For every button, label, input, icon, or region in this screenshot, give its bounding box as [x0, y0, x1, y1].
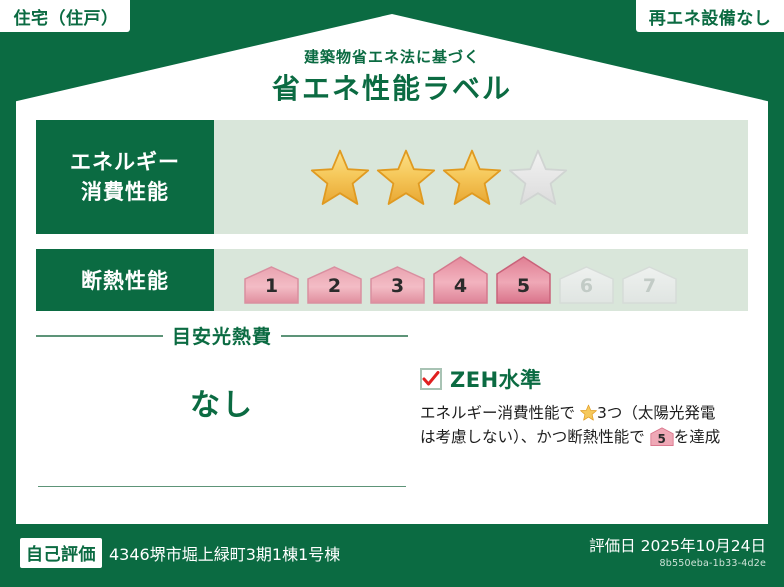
check-icon	[422, 371, 440, 387]
zeh-desc-part3: を達成	[674, 428, 721, 446]
energy-label-line1: エネルギー	[70, 147, 180, 177]
energy-label-line2: 消費性能	[81, 177, 169, 207]
footer-right-group: 評価日 2025年10月24日 8b550eba-1b33-4d2e	[589, 534, 766, 569]
insulation-level-7: 7	[620, 266, 679, 304]
insulation-level-6-number: 6	[557, 275, 616, 297]
energy-performance-label: エネルギー 消費性能	[36, 120, 214, 234]
label-title-block: 建築物省エネ法に基づく 省エネ性能ラベル	[0, 48, 784, 108]
insulation-level-5: 5	[494, 256, 553, 304]
insulation-performance-row: 断熱性能 1	[36, 249, 748, 311]
star-rating	[310, 148, 568, 206]
star-icon-empty-4	[508, 148, 568, 206]
badge-renewable-energy-label: 再エネ設備なし	[649, 4, 772, 29]
rule-left	[36, 335, 163, 337]
utility-cost-heading: 目安光熱費	[36, 322, 408, 349]
insulation-level-1-number: 1	[242, 275, 301, 297]
document-hash: 8b550eba-1b33-4d2e	[589, 558, 766, 569]
zeh-block: ZEH水準 エネルギー消費性能で 3つ（太陽光発電 は考慮しない）、かつ断熱性能…	[420, 364, 750, 449]
title-main: 省エネ性能ラベル	[0, 70, 784, 108]
zeh-desc-star-count: 3つ（太陽光発電	[597, 404, 715, 422]
insulation-performance-body: 1 2 3	[214, 249, 748, 311]
utility-cost-value: なし	[36, 380, 408, 424]
star-icon-inline	[580, 404, 597, 421]
zeh-title: ZEH水準	[450, 364, 542, 394]
energy-performance-row: エネルギー 消費性能	[36, 120, 748, 234]
title-subtitle: 建築物省エネ法に基づく	[0, 48, 784, 66]
zeh-desc-part1: エネルギー消費性能で	[420, 404, 575, 422]
insulation-level-2: 2	[305, 266, 364, 304]
zeh-description: エネルギー消費性能で 3つ（太陽光発電 は考慮しない）、かつ断熱性能で 5 を達…	[420, 401, 750, 449]
insulation-level-2-number: 2	[305, 275, 364, 297]
insulation-level-7-number: 7	[620, 275, 679, 297]
property-address: 4346堺市堀上緑町3期1棟1号棟	[109, 541, 340, 565]
insulation-level-6: 6	[557, 266, 616, 304]
insulation-level-4-number: 4	[431, 275, 490, 297]
badge-renewable-energy: 再エネ設備なし	[636, 0, 784, 32]
star-icon-filled-2	[376, 148, 436, 206]
insulation-performance-label: 断熱性能	[36, 249, 214, 311]
badge-building-type: 住宅（住戸）	[0, 0, 130, 32]
insulation-level-1: 1	[242, 266, 301, 304]
badge-building-type-label: 住宅（住戸）	[14, 4, 119, 29]
zeh-checkbox[interactable]	[420, 368, 442, 390]
star-icon-filled-1	[310, 148, 370, 206]
zeh-heading: ZEH水準	[420, 364, 750, 394]
utility-cost-divider	[38, 486, 406, 487]
evaluation-date: 評価日 2025年10月24日	[589, 534, 766, 556]
footer-left-group: 自己評価 4346堺市堀上緑町3期1棟1号棟	[20, 538, 340, 568]
insulation-level-3-number: 3	[368, 275, 427, 297]
house-icon-inline-number: 5	[650, 430, 674, 449]
insulation-level-scale: 1 2 3	[242, 256, 679, 304]
self-evaluation-badge: 自己評価	[20, 538, 102, 568]
insulation-level-4: 4	[431, 256, 490, 304]
energy-performance-label: 住宅（住戸） 再エネ設備なし 建築物省エネ法に基づく 省エネ性能ラベル エネルギ…	[0, 0, 784, 587]
house-icon-inline: 5	[650, 427, 674, 446]
rule-right	[281, 335, 408, 337]
utility-cost-title: 目安光熱費	[172, 322, 272, 349]
zeh-desc-part2: は考慮しない）、かつ断熱性能で	[420, 428, 645, 446]
insulation-label-text: 断熱性能	[81, 265, 169, 295]
label-footer: 自己評価 4346堺市堀上緑町3期1棟1号棟 評価日 2025年10月24日 8…	[0, 524, 784, 587]
insulation-level-5-number: 5	[494, 275, 553, 297]
star-icon-filled-3	[442, 148, 502, 206]
insulation-level-3: 3	[368, 266, 427, 304]
energy-performance-body	[214, 120, 748, 234]
